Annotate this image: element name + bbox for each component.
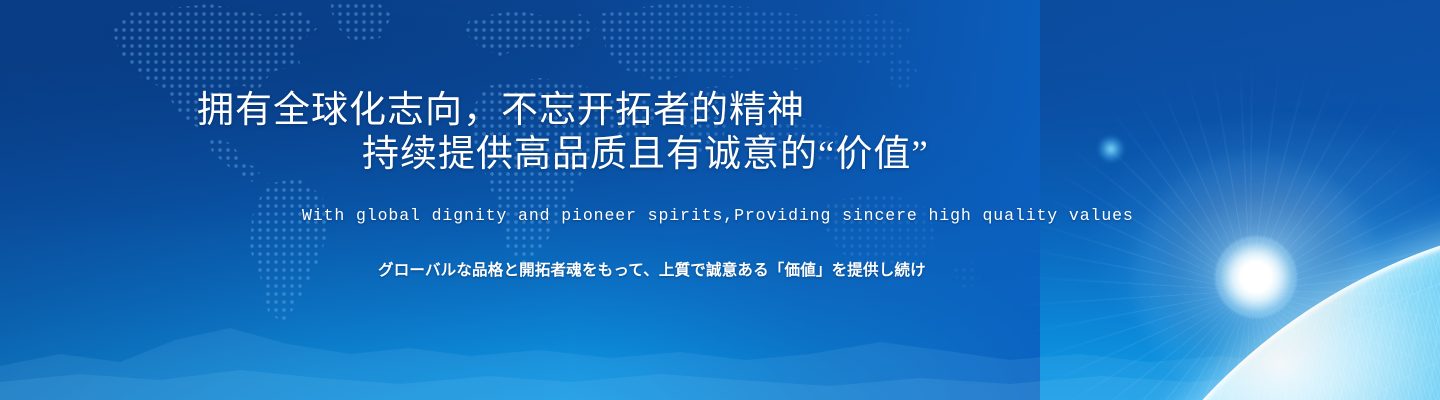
- banner-copy: 拥有全球化志向，不忘开拓者的精神 持续提供高品质且有诚意的“价值” With g…: [0, 0, 1440, 400]
- subheadline-english: With global dignity and pioneer spirits,…: [302, 206, 1134, 225]
- headline-chinese-line-2: 持续提供高品质且有诚意的“价值”: [362, 136, 929, 173]
- subheadline-japanese: グローバルな品格と開拓者魂をもって、上質で誠意ある「価値」を提供し続け: [378, 258, 926, 280]
- hero-banner: 拥有全球化志向，不忘开拓者的精神 持续提供高品质且有诚意的“价值” With g…: [0, 0, 1440, 400]
- headline-chinese-line-1: 拥有全球化志向，不忘开拓者的精神: [197, 92, 805, 129]
